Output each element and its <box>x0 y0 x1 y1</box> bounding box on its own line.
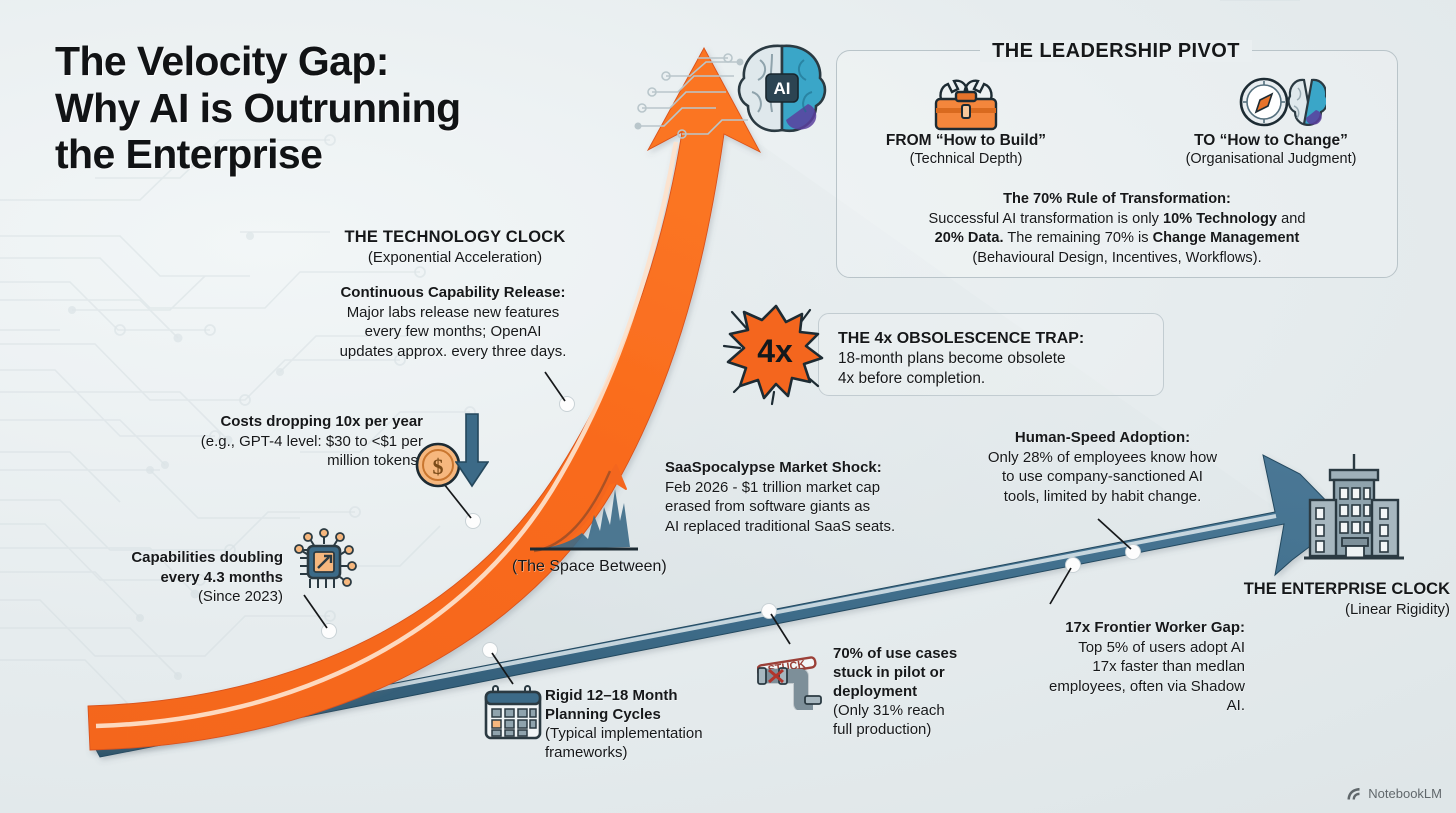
market-crash-chart-icon <box>520 455 660 560</box>
human-speed-line-2: to use company-sanctioned AI <box>960 467 1245 487</box>
toolbox-icon <box>930 75 1002 133</box>
frontier-line-2: 17x faster than medlan <box>990 657 1245 677</box>
frontier-line-4: AI. <box>990 696 1245 716</box>
leadership-pivot-title: THE LEADERSHIP PIVOT <box>836 40 1396 63</box>
marker-dot-release <box>560 397 575 412</box>
title-line-2: Why AI is Outrunning <box>55 85 575 132</box>
stuck-sub-1: (Only 31% reach <box>833 701 993 720</box>
title-line-3: the Enterprise <box>55 131 575 178</box>
enterprise-clock-title: THE ENTERPRISE CLOCK <box>1178 580 1450 599</box>
obsolescence-line-2: 4x before completion. <box>838 369 1168 389</box>
continuous-release-line-2: every few months; OpenAI <box>288 322 618 342</box>
technology-clock-title: THE TECHNOLOGY CLOCK <box>295 228 615 247</box>
watermark-label: NotebookLM <box>1368 786 1442 801</box>
rule-l2c: Change Management <box>1153 230 1300 246</box>
pivot-to-sub: (Organisational Judgment) <box>1146 150 1396 168</box>
cost-rest: (e.g., GPT-4 level: $30 to <$1 per milli… <box>201 433 423 470</box>
rigid-planning-annotation: Rigid 12–18 Month Planning Cycles (Typic… <box>545 686 760 762</box>
stuck-sub-2: full production) <box>833 720 993 739</box>
ai-brain-label: AI <box>774 79 791 98</box>
marker-dot-stuck <box>762 604 777 619</box>
pivot-to-label: TO “How to Change” <box>1146 131 1396 150</box>
burst-label: 4x <box>757 333 793 369</box>
frontier-annotation: 17x Frontier Worker Gap: Top 5% of users… <box>990 618 1245 716</box>
enterprise-clock-subtitle: (Linear Rigidity) <box>1178 601 1450 618</box>
marker-dot-rigid <box>483 643 498 658</box>
frontier-bold: 17x Frontier Worker Gap: <box>990 618 1245 638</box>
rule-line-2: 20% Data. The remaining 70% is Change Ma… <box>852 229 1382 249</box>
saas-line-1: Feb 2026 - $1 trillion market cap <box>665 478 955 498</box>
space-between-label: (The Space Between) <box>512 558 667 576</box>
capabilities-sub: (Since 2023) <box>78 587 283 607</box>
infographic-canvas: The Velocity Gap: Why AI is Outrunning t… <box>0 0 1456 813</box>
obsolescence-line-1: 18-month plans become obsolete <box>838 349 1168 369</box>
human-speed-annotation: Human-Speed Adoption: Only 28% of employ… <box>960 428 1245 506</box>
seventy-percent-rule: The 70% Rule of Transformation: Successf… <box>852 190 1382 269</box>
rigid-bold-1: Rigid 12–18 Month <box>545 686 760 705</box>
leader-release <box>545 372 565 401</box>
leadership-pivot-title-text: THE LEADERSHIP PIVOT <box>980 40 1252 62</box>
leader-capabilities <box>304 595 327 628</box>
rule-l1b: 10% Technology <box>1163 211 1277 227</box>
frontier-line-3: employees, often via Shadow <box>990 677 1245 697</box>
rule-l2b: The remaining 70% is <box>1004 230 1153 246</box>
cpu-chip-icon <box>288 526 360 598</box>
pivot-from: FROM “How to Build” (Technical Depth) <box>846 131 1086 169</box>
rigid-sub-2: frameworks) <box>545 743 760 762</box>
stuck-bold-1: 70% of use cases <box>833 644 993 663</box>
marker-dot-frontier <box>1066 558 1081 573</box>
obsolescence-trap-text: THE 4x OBSOLESCENCE TRAP: 18-month plans… <box>838 328 1168 390</box>
four-x-burst-icon: 4x <box>718 300 834 410</box>
pivot-from-label: FROM “How to Build” <box>846 131 1086 150</box>
cost-bold: Costs dropping 10x per year <box>220 413 423 430</box>
rule-l1a: Successful AI transformation is only <box>929 211 1163 227</box>
title-line-1: The Velocity Gap: <box>55 38 575 85</box>
continuous-release-title: Continuous Capability Release: <box>288 283 618 303</box>
rule-line-1: Successful AI transformation is only 10%… <box>852 210 1382 230</box>
technology-clock-body: Continuous Capability Release: Major lab… <box>288 283 618 361</box>
obsolescence-title: THE 4x OBSOLESCENCE TRAP: <box>838 328 1168 349</box>
saas-annotation: SaaSpocalypse Market Shock: Feb 2026 - $… <box>665 458 955 536</box>
page-title: The Velocity Gap: Why AI is Outrunning t… <box>55 38 575 178</box>
marker-dot-cost <box>466 514 481 529</box>
capabilities-annotation: Capabilities doubling every 4.3 months (… <box>78 548 283 607</box>
stuck-annotation: 70% of use cases stuck in pilot or deplo… <box>833 644 993 739</box>
blocked-pipe-icon: STUCK <box>757 640 835 710</box>
down-arrow-icon <box>455 412 489 490</box>
saas-line-3: AI replaced traditional SaaS seats. <box>665 517 955 537</box>
svg-text:$: $ <box>433 454 444 479</box>
continuous-release-line-1: Major labs release new features <box>288 303 618 323</box>
human-speed-line-3: tools, limited by habit change. <box>960 487 1245 507</box>
saas-bold: SaaSpocalypse Market Shock: <box>665 458 955 478</box>
stuck-bold-3: deployment <box>833 682 993 701</box>
capabilities-bold-2: every 4.3 months <box>78 568 283 588</box>
stuck-bold-2: stuck in pilot or <box>833 663 993 682</box>
rule-line-3: (Behavioural Design, Incentives, Workflo… <box>852 249 1382 269</box>
cost-annotation: Costs dropping 10x per year (e.g., GPT-4… <box>188 412 423 471</box>
watermark: NotebookLM <box>1346 786 1442 801</box>
pivot-from-sub: (Technical Depth) <box>846 150 1086 168</box>
human-speed-bold: Human-Speed Adoption: <box>960 428 1245 448</box>
compass-brain-icon <box>1238 72 1326 132</box>
office-building-icon <box>1300 448 1408 566</box>
saas-line-2: erased from software giants as <box>665 497 955 517</box>
rigid-sub-1: (Typical implementation <box>545 724 760 743</box>
calendar-icon <box>483 684 543 742</box>
rule-l2a: 20% Data. <box>935 230 1004 246</box>
continuous-release-line-3: updates approx. every three days. <box>288 342 618 362</box>
marker-dot-capabilities <box>322 624 337 639</box>
capabilities-bold-1: Capabilities doubling <box>78 548 283 568</box>
human-speed-line-1: Only 28% of employees know how <box>960 448 1245 468</box>
rule-l1c: and <box>1277 211 1305 227</box>
notebooklm-icon <box>1346 787 1362 801</box>
ai-brain-icon: AI <box>630 34 830 144</box>
rigid-bold-2: Planning Cycles <box>545 705 760 724</box>
leader-frontier <box>1050 568 1071 604</box>
technology-clock-subtitle: (Exponential Acceleration) <box>295 249 615 266</box>
pivot-to: TO “How to Change” (Organisational Judgm… <box>1146 131 1396 169</box>
rule-title: The 70% Rule of Transformation: <box>852 190 1382 210</box>
frontier-line-1: Top 5% of users adopt AI <box>990 638 1245 658</box>
